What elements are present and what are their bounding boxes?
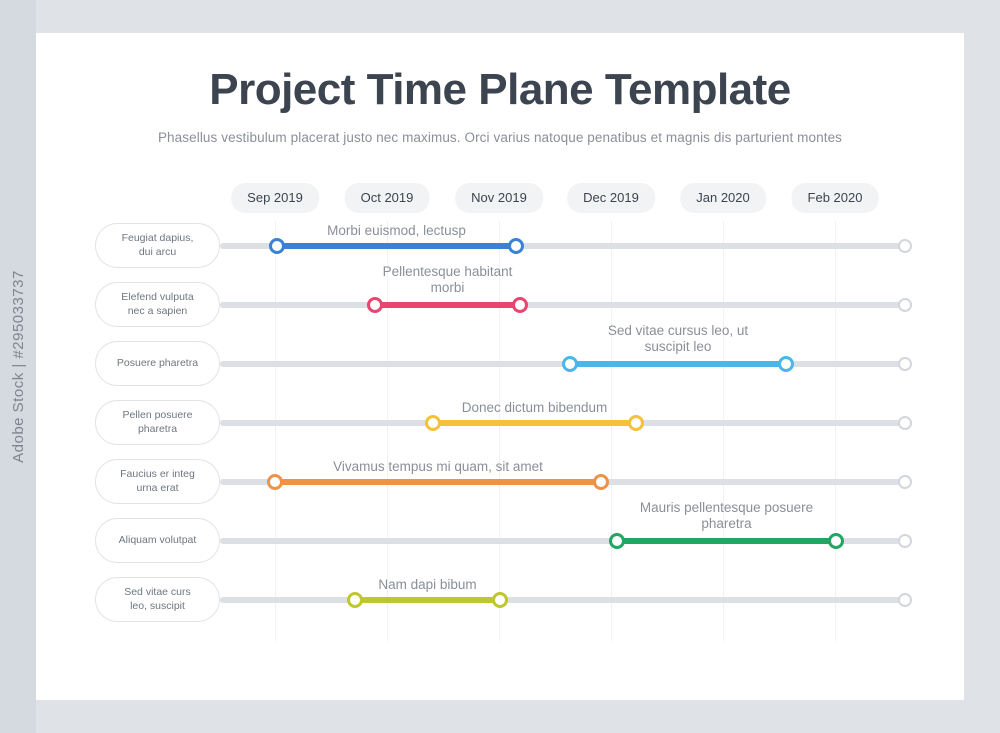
- month-tick-nov-2019[interactable]: Nov 2019: [455, 183, 543, 213]
- task-row: Pellen posuerepharetraDonec dictum biben…: [36, 394, 964, 453]
- track-end-node: [898, 534, 912, 548]
- gantt-timeline: Sep 2019Oct 2019Nov 2019Dec 2019Jan 2020…: [36, 33, 964, 700]
- task-end-node[interactable]: [778, 356, 794, 372]
- task-row: Faucius er integurna eratVivamus tempus …: [36, 453, 964, 512]
- track-end-node: [898, 475, 912, 489]
- stock-credit-label: Adobe Stock | #295033737: [0, 0, 36, 733]
- task-name-pill[interactable]: Feugiat dapius,dui arcu: [95, 223, 220, 268]
- task-bar[interactable]: [275, 479, 601, 485]
- task-end-node[interactable]: [512, 297, 528, 313]
- month-tick-jan-2020[interactable]: Jan 2020: [680, 183, 766, 213]
- task-row: Aliquam volutpatMauris pellentesque posu…: [36, 512, 964, 571]
- task-row: Posuere pharetraSed vitae cursus leo, ut…: [36, 335, 964, 394]
- task-bar[interactable]: [433, 420, 636, 426]
- month-tick-sep-2019[interactable]: Sep 2019: [231, 183, 319, 213]
- task-start-node[interactable]: [347, 592, 363, 608]
- task-bar-label: Mauris pellentesque posuerepharetra: [640, 500, 813, 512]
- task-name-pill[interactable]: Sed vitae cursleo, suscipit: [95, 577, 220, 622]
- task-name-pill[interactable]: Aliquam volutpat: [95, 518, 220, 563]
- task-end-node[interactable]: [593, 474, 609, 490]
- task-row: Elefend vulputanec a sapienPellentesque …: [36, 276, 964, 335]
- task-end-node[interactable]: [508, 238, 524, 254]
- task-bar[interactable]: [355, 597, 500, 603]
- task-bar-label: Sed vitae cursus leo, utsuscipit leo: [608, 323, 748, 335]
- track-end-node: [898, 416, 912, 430]
- month-tick-dec-2019[interactable]: Dec 2019: [567, 183, 655, 213]
- track-end-node: [898, 239, 912, 253]
- task-start-node[interactable]: [367, 297, 383, 313]
- task-track: [220, 302, 908, 308]
- stock-credit-text: Adobe Stock | #295033737: [10, 270, 27, 463]
- task-name-pill[interactable]: Elefend vulputanec a sapien: [95, 282, 220, 327]
- track-end-node: [898, 298, 912, 312]
- task-end-node[interactable]: [828, 533, 844, 549]
- task-start-node[interactable]: [425, 415, 441, 431]
- task-bar[interactable]: [277, 243, 516, 249]
- task-start-node[interactable]: [269, 238, 285, 254]
- task-end-node[interactable]: [492, 592, 508, 608]
- task-bar[interactable]: [617, 538, 836, 544]
- track-end-node: [898, 357, 912, 371]
- timeline-card: Project Time Plane Template Phasellus ve…: [36, 33, 964, 700]
- task-name-pill[interactable]: Faucius er integurna erat: [95, 459, 220, 504]
- task-track: [220, 597, 908, 603]
- task-start-node[interactable]: [609, 533, 625, 549]
- task-end-node[interactable]: [628, 415, 644, 431]
- task-bar-label: Pellentesque habitantmorbi: [383, 264, 513, 276]
- task-row: Sed vitae cursleo, suscipitNam dapi bibu…: [36, 571, 964, 630]
- month-tick-oct-2019[interactable]: Oct 2019: [345, 183, 430, 213]
- task-name-pill[interactable]: Posuere pharetra: [95, 341, 220, 386]
- track-end-node: [898, 593, 912, 607]
- task-start-node[interactable]: [267, 474, 283, 490]
- month-tick-feb-2020[interactable]: Feb 2020: [792, 183, 879, 213]
- task-name-pill[interactable]: Pellen posuerepharetra: [95, 400, 220, 445]
- task-bar[interactable]: [375, 302, 520, 308]
- task-start-node[interactable]: [562, 356, 578, 372]
- task-bar[interactable]: [570, 361, 786, 367]
